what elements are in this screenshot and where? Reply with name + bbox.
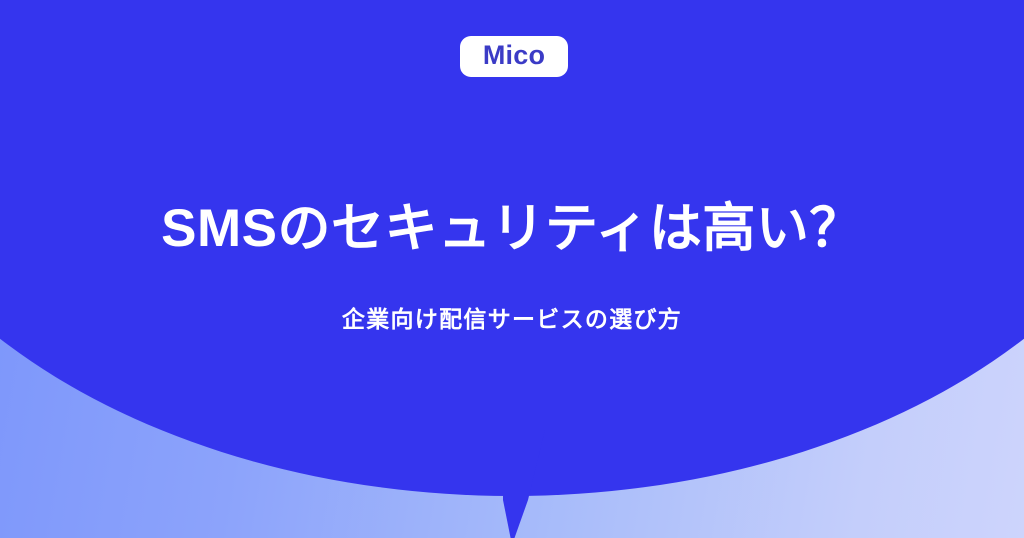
headline-block: SMSのセキュリティは高い？ 企業向け配信サービスの選び方 <box>0 198 1024 334</box>
page-title: SMSのセキュリティは高い？ <box>0 198 1024 261</box>
hero-content: Mico SMSのセキュリティは高い？ 企業向け配信サービスの選び方 <box>0 0 1024 538</box>
hero-banner: Mico SMSのセキュリティは高い？ 企業向け配信サービスの選び方 <box>0 0 1024 538</box>
brand-logo[interactable]: Mico <box>460 36 568 77</box>
brand-logo-label: Mico <box>483 42 545 71</box>
page-subtitle: 企業向け配信サービスの選び方 <box>0 261 1024 335</box>
